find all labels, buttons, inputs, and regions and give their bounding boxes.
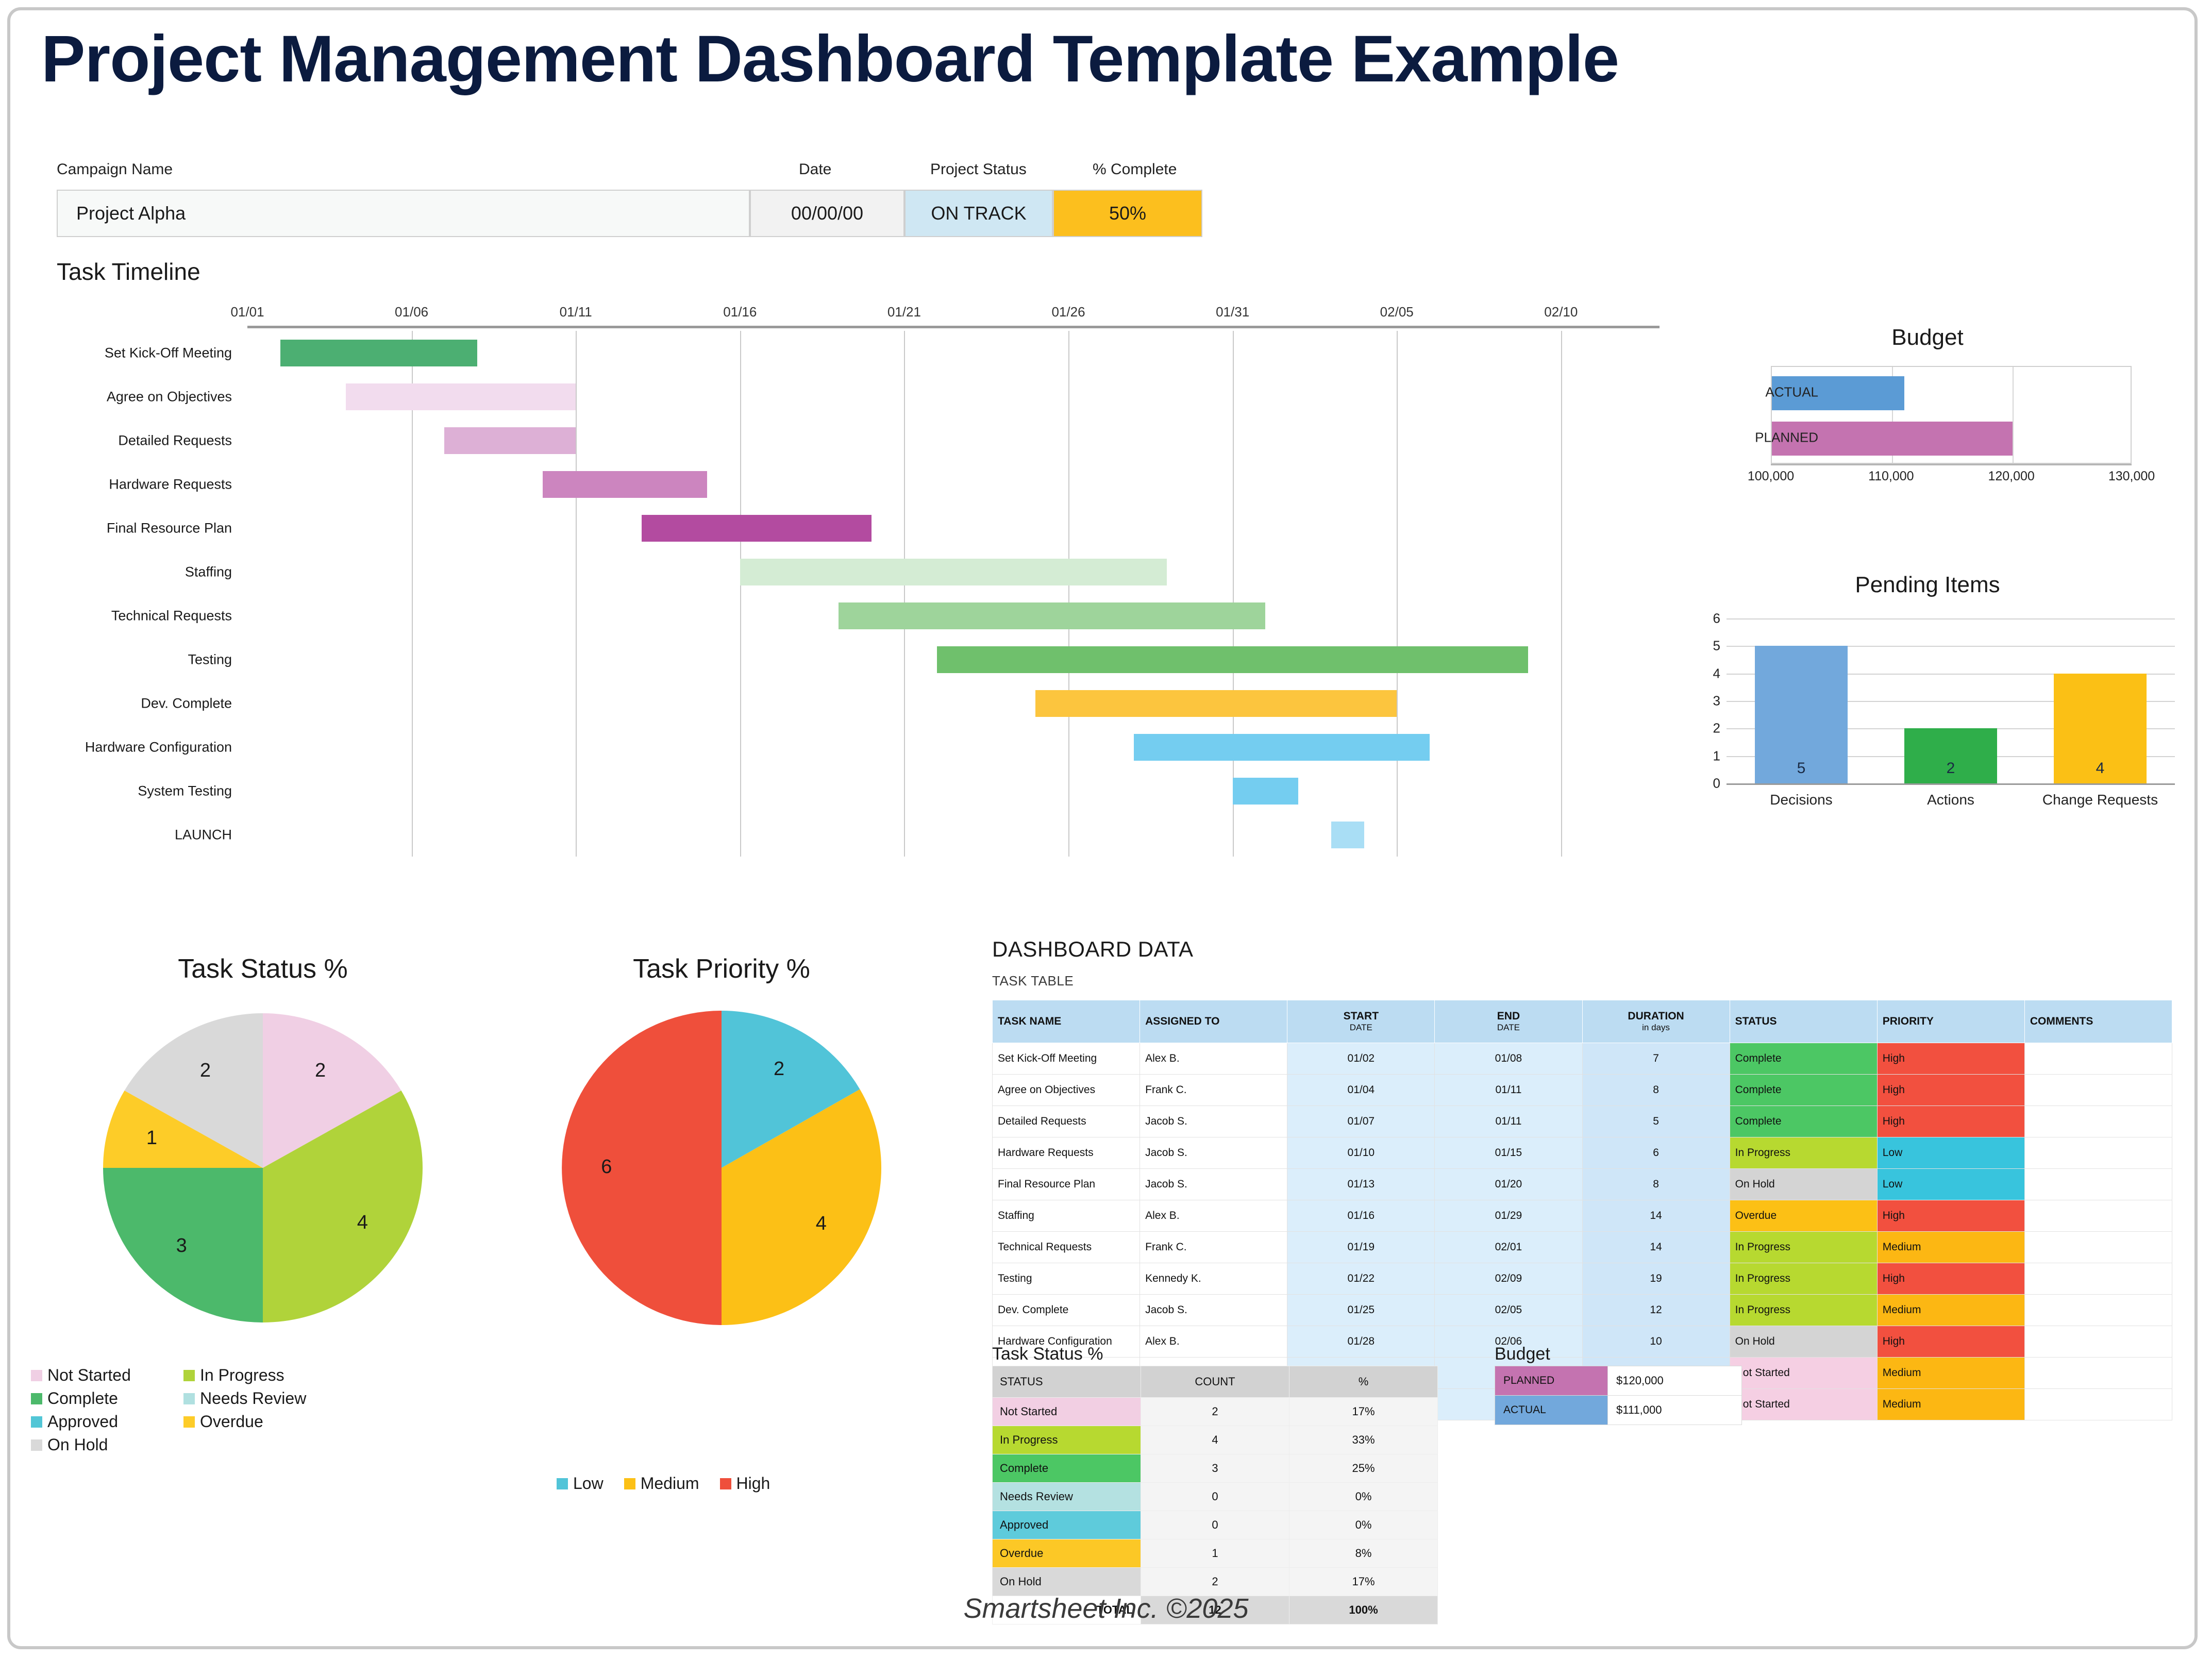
page-title: Project Management Dashboard Template Ex… xyxy=(41,25,2129,94)
table-row[interactable]: Agree on ObjectivesFrank C.01/0401/118Co… xyxy=(993,1075,2172,1106)
budget-summary-value: $111,000 xyxy=(1608,1396,1742,1425)
task-table-cell: 01/07 xyxy=(1287,1106,1435,1137)
legend-label: Approved xyxy=(47,1412,118,1431)
status-summary-header-row: STATUSCOUNT% xyxy=(993,1366,1438,1398)
task-table-cell: Not Started xyxy=(1730,1389,1877,1420)
task-table-cell xyxy=(2024,1200,2172,1232)
status-summary-header-cell: COUNT xyxy=(1141,1366,1289,1398)
task-table-cell: 02/05 xyxy=(1435,1295,1582,1326)
status-summary-count-cell: 0 xyxy=(1141,1511,1289,1539)
gantt-task-label: Hardware Configuration xyxy=(10,739,232,755)
task-table-cell: Staffing xyxy=(993,1200,1140,1232)
task-table-cell: Alex B. xyxy=(1140,1326,1287,1358)
task-table-cell: Medium xyxy=(1877,1232,2024,1263)
task-table-cell: 10 xyxy=(1582,1326,1730,1358)
task-table-cell: In Progress xyxy=(1730,1137,1877,1169)
pie-slice-value: 3 xyxy=(176,1235,187,1257)
task-table-header-cell: TASK NAME xyxy=(993,1000,1140,1043)
gantt-task-label: Set Kick-Off Meeting xyxy=(10,345,232,361)
task-table-cell: On Hold xyxy=(1730,1326,1877,1358)
task-priority-pie-svg: 246 xyxy=(551,998,892,1338)
pie-slice-value: 2 xyxy=(774,1058,784,1080)
task-table: TASK NAMEASSIGNED TOSTARTDATEENDDATEDURA… xyxy=(992,1000,2172,1420)
task-table-cell: 02/09 xyxy=(1435,1263,1582,1295)
table-row: Needs Review00% xyxy=(993,1483,1438,1511)
status-summary-title: Task Status % xyxy=(992,1344,1103,1364)
task-table-cell: Jacob S. xyxy=(1140,1106,1287,1137)
pie-slice-value: 4 xyxy=(357,1212,368,1233)
task-table-cell: In Progress xyxy=(1730,1295,1877,1326)
task-priority-pie-chart: Task Priority % 246 LowMediumHigh xyxy=(490,953,953,1531)
budget-category-label: PLANNED xyxy=(1755,430,1818,446)
pending-axis-tick: 2 xyxy=(1696,721,1720,736)
task-table-cell: Low xyxy=(1877,1169,2024,1200)
task-table-header-sublabel: DATE xyxy=(1293,1023,1429,1033)
status-summary-count-cell: 0 xyxy=(1141,1483,1289,1511)
header-value-row: Project Alpha 00/00/00 ON TRACK 50% xyxy=(57,190,1242,237)
pie-slice xyxy=(562,1011,722,1325)
gantt-axis-tick: 01/06 xyxy=(395,304,428,320)
legend-label: High xyxy=(736,1474,770,1493)
table-row[interactable]: Final Resource PlanJacob S.01/1301/208On… xyxy=(993,1169,2172,1200)
task-table-cell: 01/11 xyxy=(1435,1106,1582,1137)
budget-axis-tick: 120,000 xyxy=(1988,469,2034,484)
status-summary-body: Not Started217%In Progress433%Complete32… xyxy=(993,1398,1438,1624)
task-table-cell xyxy=(2024,1295,2172,1326)
gantt-bar xyxy=(1331,822,1364,848)
task-table-header-cell: STATUS xyxy=(1730,1000,1877,1043)
status-summary-status-cell: In Progress xyxy=(993,1426,1141,1454)
gantt-gridline xyxy=(576,331,577,857)
gantt-gridline xyxy=(904,331,905,857)
task-table-cell: Jacob S. xyxy=(1140,1137,1287,1169)
budget-gridline xyxy=(2013,367,2014,463)
status-summary-pct-cell: 33% xyxy=(1289,1426,1438,1454)
pending-items-chart: Pending Items 0123456524 DecisionsAction… xyxy=(1670,572,2185,845)
legend-label: Not Started xyxy=(47,1366,131,1385)
gantt-task-label: Technical Requests xyxy=(10,608,232,624)
legend-label: Overdue xyxy=(200,1412,263,1431)
legend-item: In Progress xyxy=(183,1366,323,1385)
status-summary-count-cell: 1 xyxy=(1141,1539,1289,1568)
label-project-status: Project Status xyxy=(930,161,1027,178)
task-table-cell: 01/25 xyxy=(1287,1295,1435,1326)
pending-bar-value: 5 xyxy=(1755,760,1848,777)
task-table-cell: Complete xyxy=(1730,1106,1877,1137)
gantt-task-label: LAUNCH xyxy=(10,827,232,843)
gantt-task-label: Testing xyxy=(10,651,232,667)
legend-label: On Hold xyxy=(47,1435,108,1454)
gantt-bar xyxy=(937,646,1528,673)
task-table-cell: Frank C. xyxy=(1140,1075,1287,1106)
task-table-cell: 01/13 xyxy=(1287,1169,1435,1200)
pie-slice-value: 2 xyxy=(200,1060,211,1081)
task-table-cell: 01/08 xyxy=(1435,1043,1582,1075)
task-table-cell: High xyxy=(1877,1263,2024,1295)
task-table-cell: Complete xyxy=(1730,1075,1877,1106)
task-table-cell: High xyxy=(1877,1200,2024,1232)
label-percent-complete: % Complete xyxy=(1093,161,1177,178)
budget-summary-key: ACTUAL xyxy=(1495,1396,1608,1425)
legend-swatch xyxy=(31,1370,42,1381)
gantt-axis-tick: 02/10 xyxy=(1544,304,1578,320)
task-table-cell: In Progress xyxy=(1730,1232,1877,1263)
task-status-pie-chart: Task Status % 24312 Not StartedIn Progre… xyxy=(31,953,495,1531)
task-table-cell: 01/19 xyxy=(1287,1232,1435,1263)
table-row[interactable]: Hardware RequestsJacob S.01/1001/156In P… xyxy=(993,1137,2172,1169)
legend-swatch xyxy=(183,1370,195,1381)
pending-category-label: Change Requests xyxy=(2042,792,2158,808)
budget-summary-body: PLANNED$120,000ACTUAL$111,000 xyxy=(1495,1366,1742,1425)
pending-axis-tick: 0 xyxy=(1696,776,1720,792)
legend-item: Needs Review xyxy=(183,1389,323,1408)
legend-label: Complete xyxy=(47,1389,118,1408)
task-table-cell: 8 xyxy=(1582,1169,1730,1200)
pie-slice-value: 2 xyxy=(315,1060,326,1081)
table-row[interactable]: Hardware ConfigurationAlex B.01/2802/061… xyxy=(993,1326,2172,1358)
task-table-header-row: TASK NAMEASSIGNED TOSTARTDATEENDDATEDURA… xyxy=(993,1000,2172,1043)
percent-complete-badge[interactable]: 50% xyxy=(1053,190,1202,237)
table-row[interactable]: StaffingAlex B.01/1601/2914OverdueHigh xyxy=(993,1200,2172,1232)
table-row[interactable]: Detailed RequestsJacob S.01/0701/115Comp… xyxy=(993,1106,2172,1137)
gantt-task-label: Detailed Requests xyxy=(10,432,232,448)
gantt-bar xyxy=(1035,690,1397,717)
gantt-axis-tick: 01/16 xyxy=(723,304,757,320)
task-status-pie-title: Task Status % xyxy=(31,953,495,984)
gantt-axis-line xyxy=(247,326,1660,328)
task-table-cell: In Progress xyxy=(1730,1263,1877,1295)
task-table-body: Set Kick-Off MeetingAlex B.01/0201/087Co… xyxy=(993,1043,2172,1420)
task-table-cell: 01/22 xyxy=(1287,1263,1435,1295)
gantt-gridline xyxy=(1561,331,1562,857)
status-summary-header-cell: % xyxy=(1289,1366,1438,1398)
date-field[interactable]: 00/00/00 xyxy=(750,190,904,237)
footer-copyright: Smartsheet Inc. ©2025 xyxy=(0,1593,2212,1624)
pending-bar: 5 xyxy=(1755,646,1848,783)
task-table-cell xyxy=(2024,1389,2172,1420)
legend-swatch xyxy=(720,1478,731,1489)
pending-axis-tick: 3 xyxy=(1696,693,1720,709)
table-row: Complete325% xyxy=(993,1454,1438,1483)
task-table-cell xyxy=(2024,1169,2172,1200)
dashboard-data-heading: DASHBOARD DATA xyxy=(992,937,1194,962)
gantt-plot-area xyxy=(247,331,1660,857)
status-summary-header-cell: STATUS xyxy=(993,1366,1141,1398)
timeline-heading: Task Timeline xyxy=(57,258,200,286)
legend-swatch xyxy=(183,1393,195,1404)
task-table-header-cell: STARTDATE xyxy=(1287,1000,1435,1043)
gantt-task-label: Final Resource Plan xyxy=(10,520,232,536)
status-summary-status-cell: Complete xyxy=(993,1454,1141,1483)
status-summary-table: STATUSCOUNT% Not Started217%In Progress4… xyxy=(992,1366,1438,1624)
task-priority-pie-title: Task Priority % xyxy=(490,953,953,984)
budget-axis-tick: 110,000 xyxy=(1868,469,1914,484)
task-table-cell: Final Resource Plan xyxy=(993,1169,1140,1200)
task-table-cell: Alex B. xyxy=(1140,1043,1287,1075)
status-summary-count-cell: 3 xyxy=(1141,1454,1289,1483)
task-table-cell xyxy=(2024,1326,2172,1358)
gantt-axis-tick: 01/26 xyxy=(1051,304,1085,320)
legend-label: Medium xyxy=(641,1474,699,1493)
task-table-cell: Dev. Complete xyxy=(993,1295,1140,1326)
task-table-header-sublabel: in days xyxy=(1588,1023,1724,1033)
task-table-cell: Set Kick-Off Meeting xyxy=(993,1043,1140,1075)
pending-bar: 4 xyxy=(2054,674,2147,783)
legend-item: Complete xyxy=(31,1389,170,1408)
task-table-cell: Hardware Requests xyxy=(993,1137,1140,1169)
task-priority-legend: LowMediumHigh xyxy=(557,1474,948,1497)
task-table-cell: 02/01 xyxy=(1435,1232,1582,1263)
task-timeline-gantt: 01/0101/0601/1101/1601/2101/2601/3102/05… xyxy=(57,304,1660,866)
gantt-bar xyxy=(444,427,576,454)
legend-item: On Hold xyxy=(31,1435,170,1454)
task-table-cell: 01/16 xyxy=(1287,1200,1435,1232)
gantt-bar xyxy=(839,602,1265,629)
budget-chart: Budget ACTUALPLANNED100,000110,000120,00… xyxy=(1670,325,2185,510)
task-table-cell: 01/10 xyxy=(1287,1137,1435,1169)
pending-bar: 2 xyxy=(1904,728,1997,783)
gantt-task-label: Dev. Complete xyxy=(10,695,232,711)
task-table-header-cell: ASSIGNED TO xyxy=(1140,1000,1287,1043)
project-status-badge[interactable]: ON TRACK xyxy=(904,190,1053,237)
legend-label: Needs Review xyxy=(200,1389,306,1408)
header-labels: Campaign Name Date Project Status % Comp… xyxy=(57,161,1242,181)
legend-swatch xyxy=(624,1478,635,1489)
pie-slice-value: 6 xyxy=(601,1156,612,1178)
task-table-cell: Overdue xyxy=(1730,1200,1877,1232)
status-summary-count-cell: 2 xyxy=(1141,1398,1289,1426)
task-status-legend: Not StartedIn ProgressCompleteNeeds Revi… xyxy=(31,1366,484,1459)
status-summary-pct-cell: 17% xyxy=(1289,1568,1438,1596)
status-summary-pct-cell: 8% xyxy=(1289,1539,1438,1568)
status-summary-pct-cell: 0% xyxy=(1289,1483,1438,1511)
task-table-cell xyxy=(2024,1358,2172,1389)
task-table-cell: 14 xyxy=(1582,1232,1730,1263)
task-table-heading: TASK TABLE xyxy=(992,973,1074,989)
gantt-bar xyxy=(1233,778,1298,805)
pending-gridline xyxy=(1727,618,2175,619)
gantt-gridline xyxy=(1397,331,1398,857)
pending-category-label: Actions xyxy=(1927,792,1974,808)
task-status-pie-svg: 24312 xyxy=(93,998,433,1338)
table-row[interactable]: TestingKennedy K.01/2202/0919In Progress… xyxy=(993,1263,2172,1295)
task-table-cell: 01/04 xyxy=(1287,1075,1435,1106)
budget-summary-title: Budget xyxy=(1495,1344,1550,1364)
legend-swatch xyxy=(31,1439,42,1451)
gantt-bar xyxy=(280,340,477,366)
pending-axis-line xyxy=(1727,783,2175,785)
gantt-task-label: Agree on Objectives xyxy=(10,389,232,405)
gantt-bar xyxy=(1134,734,1429,761)
status-summary-status-cell: Needs Review xyxy=(993,1483,1141,1511)
status-summary-status-cell: Not Started xyxy=(993,1398,1141,1426)
task-table-cell: 14 xyxy=(1582,1200,1730,1232)
table-row: Approved00% xyxy=(993,1511,1438,1539)
status-summary-pct-cell: 0% xyxy=(1289,1511,1438,1539)
pie-slice-value: 1 xyxy=(146,1127,157,1149)
gantt-bar xyxy=(346,383,576,410)
task-table-header-cell: ENDDATE xyxy=(1435,1000,1582,1043)
gantt-bar xyxy=(642,515,872,542)
task-table-header-sublabel: DATE xyxy=(1440,1023,1577,1033)
pending-bar-value: 2 xyxy=(1904,760,1997,777)
budget-chart-title: Budget xyxy=(1670,325,2185,350)
task-table-cell: 01/28 xyxy=(1287,1326,1435,1358)
pending-category-label: Decisions xyxy=(1770,792,1832,808)
task-table-cell: 7 xyxy=(1582,1043,1730,1075)
task-table-cell: Medium xyxy=(1877,1358,2024,1389)
status-summary-status-cell: Overdue xyxy=(993,1539,1141,1568)
task-table-cell: Complete xyxy=(1730,1043,1877,1075)
gantt-task-label: Staffing xyxy=(10,564,232,580)
task-table-cell: 01/11 xyxy=(1435,1075,1582,1106)
task-table-cell: Agree on Objectives xyxy=(993,1075,1140,1106)
gantt-task-label: Hardware Requests xyxy=(10,476,232,492)
task-table-cell xyxy=(2024,1232,2172,1263)
status-summary-pct-cell: 17% xyxy=(1289,1398,1438,1426)
task-table-cell: 01/29 xyxy=(1435,1200,1582,1232)
task-table-cell xyxy=(2024,1075,2172,1106)
status-summary-status-cell: On Hold xyxy=(993,1568,1141,1596)
status-summary-status-cell: Approved xyxy=(993,1511,1141,1539)
task-table-cell: 01/02 xyxy=(1287,1043,1435,1075)
label-date: Date xyxy=(799,161,831,178)
gantt-bar xyxy=(543,471,707,498)
task-table-header-cell: COMMENTS xyxy=(2024,1000,2172,1043)
gantt-axis-tick: 01/01 xyxy=(230,304,264,320)
gantt-task-label: System Testing xyxy=(10,783,232,799)
gantt-axis-tick: 02/05 xyxy=(1380,304,1414,320)
budget-summary-row: PLANNED$120,000 xyxy=(1495,1366,1742,1396)
task-table-cell: 12 xyxy=(1582,1295,1730,1326)
budget-summary-key: PLANNED xyxy=(1495,1366,1608,1396)
task-table-cell: 5 xyxy=(1582,1106,1730,1137)
task-table-cell: Testing xyxy=(993,1263,1140,1295)
legend-item: Overdue xyxy=(183,1412,323,1431)
legend-swatch xyxy=(557,1478,568,1489)
task-table-cell: High xyxy=(1877,1326,2024,1358)
legend-item: Low xyxy=(557,1474,604,1493)
legend-item: Approved xyxy=(31,1412,170,1431)
task-table-cell: Jacob S. xyxy=(1140,1295,1287,1326)
task-table-cell: On Hold xyxy=(1730,1169,1877,1200)
task-table-cell: High xyxy=(1877,1106,2024,1137)
task-table-cell: Kennedy K. xyxy=(1140,1263,1287,1295)
task-table-cell: Frank C. xyxy=(1140,1232,1287,1263)
table-row: Not Started217% xyxy=(993,1398,1438,1426)
pending-axis-tick: 5 xyxy=(1696,638,1720,654)
status-summary-pct-cell: 25% xyxy=(1289,1454,1438,1483)
legend-item: High xyxy=(720,1474,770,1493)
task-table-cell: Alex B. xyxy=(1140,1200,1287,1232)
budget-axis-line xyxy=(1771,464,2132,465)
budget-summary-table: PLANNED$120,000ACTUAL$111,000 xyxy=(1495,1366,1742,1425)
pending-plot-area: 0123456524 xyxy=(1727,618,2175,783)
pending-axis-tick: 4 xyxy=(1696,665,1720,681)
budget-summary-row: ACTUAL$111,000 xyxy=(1495,1396,1742,1425)
task-table-cell: 01/20 xyxy=(1435,1169,1582,1200)
pending-axis-tick: 1 xyxy=(1696,748,1720,764)
legend-swatch xyxy=(31,1416,42,1428)
pending-chart-title: Pending Items xyxy=(1670,572,2185,598)
legend-swatch xyxy=(183,1416,195,1428)
task-table-cell: Technical Requests xyxy=(993,1232,1140,1263)
budget-axis-tick: 130,000 xyxy=(2108,469,2155,484)
task-table-cell: Jacob S. xyxy=(1140,1169,1287,1200)
gantt-bar xyxy=(740,559,1167,585)
pending-bar-value: 4 xyxy=(2054,760,2147,777)
task-table-cell xyxy=(2024,1137,2172,1169)
legend-item: Medium xyxy=(624,1474,699,1493)
table-row[interactable]: Set Kick-Off MeetingAlex B.01/0201/087Co… xyxy=(993,1043,2172,1075)
budget-plot-area xyxy=(1771,366,2132,464)
status-summary-count-cell: 2 xyxy=(1141,1568,1289,1596)
gantt-axis-tick: 01/31 xyxy=(1216,304,1249,320)
gantt-axis-tick: 01/21 xyxy=(887,304,921,320)
table-row: Overdue18% xyxy=(993,1539,1438,1568)
task-table-cell xyxy=(2024,1263,2172,1295)
status-summary-count-cell: 4 xyxy=(1141,1426,1289,1454)
task-table-cell: High xyxy=(1877,1075,2024,1106)
task-table-cell: Medium xyxy=(1877,1389,2024,1420)
table-row: On Hold217% xyxy=(993,1568,1438,1596)
gantt-gridline xyxy=(1068,331,1069,857)
task-table-cell: Not Started xyxy=(1730,1358,1877,1389)
task-table-cell xyxy=(2024,1106,2172,1137)
task-table-cell: 8 xyxy=(1582,1075,1730,1106)
table-row[interactable]: Technical RequestsFrank C.01/1902/0114In… xyxy=(993,1232,2172,1263)
legend-label: Low xyxy=(573,1474,604,1493)
task-table-cell: Medium xyxy=(1877,1295,2024,1326)
task-table-cell xyxy=(2024,1043,2172,1075)
table-row[interactable]: Dev. CompleteJacob S.01/2502/0512In Prog… xyxy=(993,1295,2172,1326)
legend-label: In Progress xyxy=(200,1366,284,1385)
task-table-cell: 01/15 xyxy=(1435,1137,1582,1169)
table-row: In Progress433% xyxy=(993,1426,1438,1454)
budget-summary-value: $120,000 xyxy=(1608,1366,1742,1396)
task-table-cell: High xyxy=(1877,1043,2024,1075)
gantt-gridline xyxy=(740,331,741,857)
task-table-cell: Detailed Requests xyxy=(993,1106,1140,1137)
label-campaign-name: Campaign Name xyxy=(57,161,173,178)
task-table-header-cell: DURATIONin days xyxy=(1582,1000,1730,1043)
campaign-name-field[interactable]: Project Alpha xyxy=(57,190,750,237)
task-table-header-cell: PRIORITY xyxy=(1877,1000,2024,1043)
pie-slice-value: 4 xyxy=(816,1213,827,1234)
budget-category-label: ACTUAL xyxy=(1765,384,1818,400)
gantt-axis-tick: 01/11 xyxy=(560,304,592,320)
budget-axis-tick: 100,000 xyxy=(1748,469,1794,484)
task-table-cell: 19 xyxy=(1582,1263,1730,1295)
pending-axis-tick: 6 xyxy=(1696,611,1720,627)
legend-item: Not Started xyxy=(31,1366,170,1385)
task-table-cell: 6 xyxy=(1582,1137,1730,1169)
legend-swatch xyxy=(31,1393,42,1404)
task-table-cell: Low xyxy=(1877,1137,2024,1169)
